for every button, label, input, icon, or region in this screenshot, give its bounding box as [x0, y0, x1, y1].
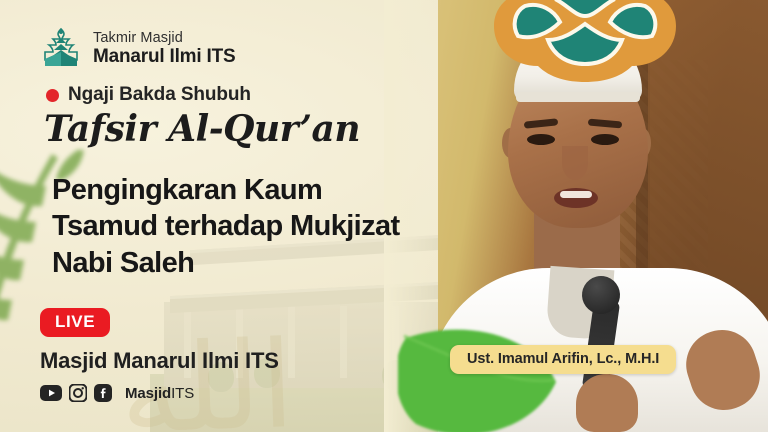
brand-line-2: Manarul Ilmi ITS — [93, 47, 236, 67]
brand-lockup: Takmir Masjid Manarul Ilmi ITS — [38, 26, 236, 72]
series-title: Tafsir Al-Qur’an — [44, 108, 360, 150]
red-dot-icon — [46, 89, 59, 102]
program-kicker: Ngaji Bakda Shubuh — [46, 84, 251, 106]
speaker-left-hand — [576, 374, 638, 432]
social-handle: MasjidITS — [125, 385, 194, 402]
mosque-minaret-icon — [38, 26, 84, 72]
youtube-icon[interactable] — [40, 385, 62, 401]
speaker-nose — [562, 146, 588, 180]
instagram-icon[interactable] — [69, 384, 87, 402]
poster-canvas: الله — [0, 0, 768, 432]
facebook-icon[interactable] — [94, 384, 112, 402]
status-badge: LIVE — [40, 308, 110, 337]
brand-line-1: Takmir Masjid — [93, 31, 236, 46]
social-handle-bold: Masjid — [125, 385, 171, 402]
brand-text-block: Takmir Masjid Manarul Ilmi ITS — [93, 31, 236, 66]
speaker-eye — [527, 134, 555, 145]
poster-content: Takmir Masjid Manarul Ilmi ITS Ngaji Bak… — [0, 0, 430, 432]
speaker-eye — [591, 134, 619, 145]
speaker-mouth — [554, 188, 598, 208]
islamic-ornament — [470, 0, 700, 84]
social-links: MasjidITS — [40, 384, 194, 402]
speaker-name-badge: Ust. Imamul Arifin, Lc., M.H.I — [450, 345, 676, 374]
venue-label: Masjid Manarul Ilmi ITS — [40, 348, 279, 374]
social-handle-light: ITS — [171, 385, 194, 402]
page-title: Pengingkaran Kaum Tsamud terhadap Mukjiz… — [52, 172, 412, 281]
program-kicker-label: Ngaji Bakda Shubuh — [68, 84, 251, 106]
